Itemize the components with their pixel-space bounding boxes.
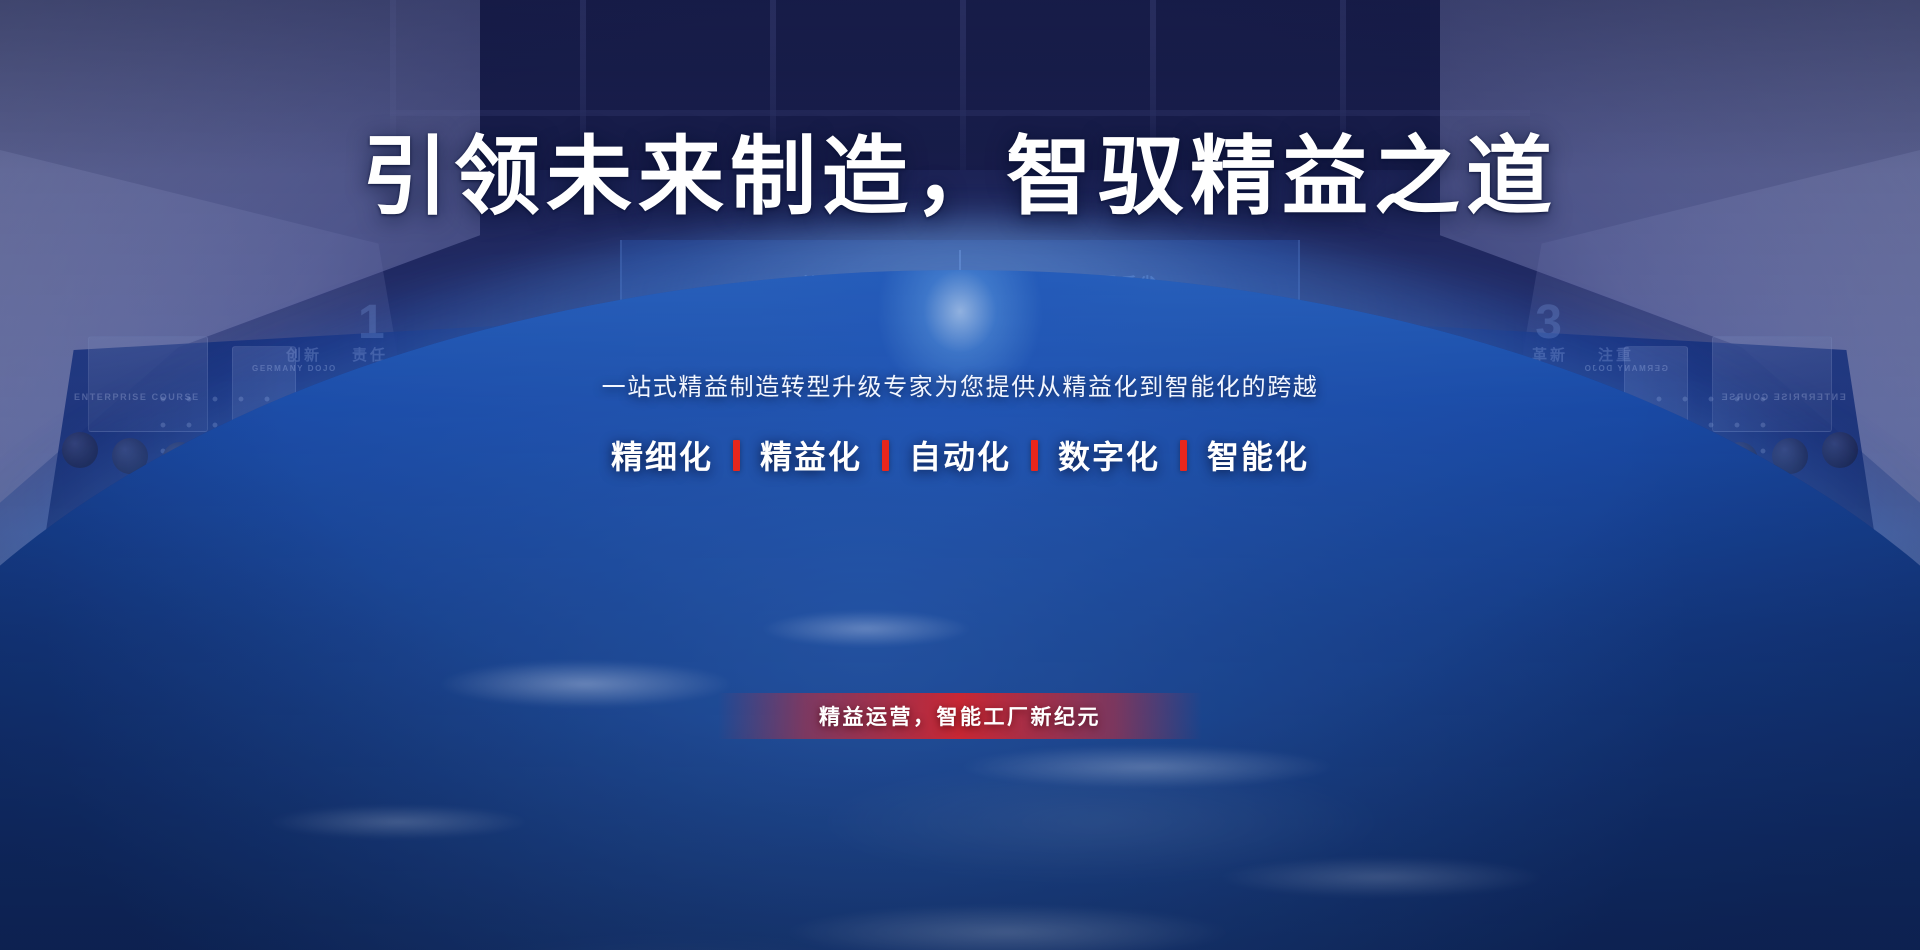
- hero-subtitle: 一站式精益制造转型升级专家为您提供从精益化到智能化的跨越: [0, 367, 1920, 402]
- keyword-item-1: 精益化: [740, 432, 882, 478]
- page-title: 引领未来制造，智驭精益之道: [0, 132, 1920, 222]
- keyword-separator-icon: [1031, 440, 1038, 471]
- keyword-list: 精细化 精益化 自动化 数字化 智能化: [0, 432, 1920, 478]
- keyword-separator-icon: [882, 440, 889, 471]
- keyword-item-4: 智能化: [1187, 432, 1329, 478]
- keyword-separator-icon: [1180, 440, 1187, 471]
- keyword-separator-icon: [733, 440, 740, 471]
- keyword-item-0: 精细化: [591, 432, 733, 478]
- keyword-item-3: 数字化: [1038, 432, 1180, 478]
- keyword-item-2: 自动化: [889, 432, 1031, 478]
- hero-content: 引领未来制造，智驭精益之道 一站式精益制造转型升级专家为您提供从精益化到智能化的…: [0, 0, 1920, 950]
- status-badge: 精益运营，智能工厂新纪元: [718, 693, 1202, 739]
- status-badge-label: 精益运营，智能工厂新纪元: [819, 701, 1101, 731]
- hero-banner: ENTERPRISE COURSE GERMANY DOJO 创新 责任 1 《…: [0, 0, 1920, 950]
